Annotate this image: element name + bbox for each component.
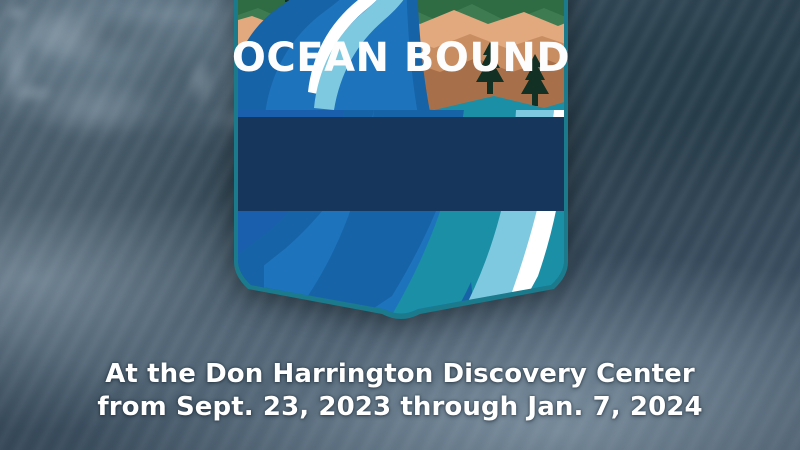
poster-canvas: OCEAN BOUND At the Don Harrington Discov… xyxy=(0,0,800,450)
badge-scene xyxy=(224,0,578,328)
event-caption: At the Don Harrington Discovery Center f… xyxy=(0,358,800,424)
wordmark-band xyxy=(224,117,578,211)
caption-line-venue: At the Don Harrington Discovery Center xyxy=(0,358,800,391)
caption-line-dates: from Sept. 23, 2023 through Jan. 7, 2024 xyxy=(0,391,800,424)
badge-illustration xyxy=(224,0,578,328)
ocean-bound-badge: OCEAN BOUND xyxy=(224,0,578,328)
